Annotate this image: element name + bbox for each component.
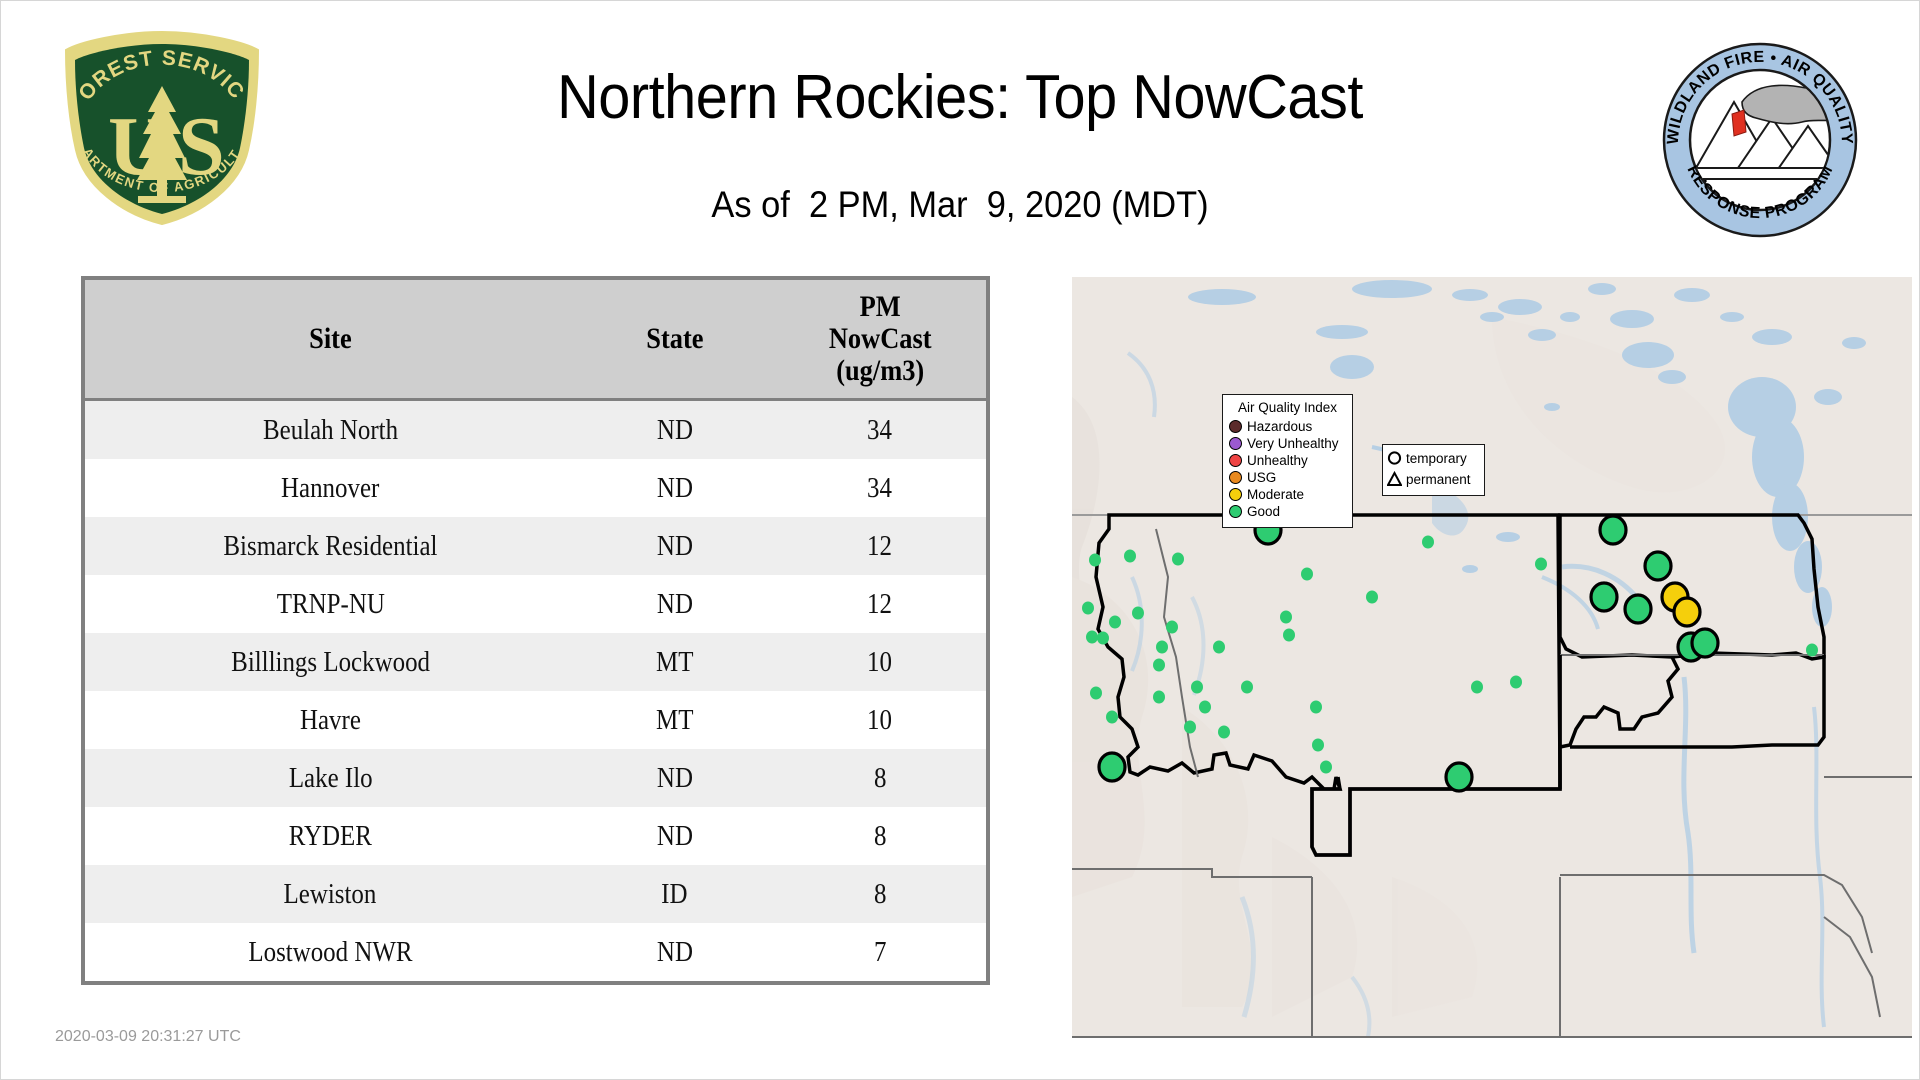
cell-pm-nowcast-label: 10	[867, 646, 892, 679]
cell-site: Beulah North	[85, 400, 576, 460]
monitor-marker-good[interactable]	[1510, 676, 1522, 689]
monitor-marker-good[interactable]	[1153, 691, 1165, 704]
monitor-marker-good[interactable]	[1132, 607, 1144, 620]
cell-site-label: Hannover	[281, 472, 379, 505]
monitor-marker-good[interactable]	[1086, 631, 1098, 644]
legend-title: Air Quality Index	[1229, 400, 1346, 415]
cell-pm-nowcast: 12	[774, 575, 986, 633]
monitor-marker-good[interactable]	[1320, 761, 1332, 774]
map-canvas	[1072, 277, 1912, 1038]
column-header-state-label: State	[588, 323, 762, 355]
monitor-marker-good[interactable]	[1692, 629, 1718, 657]
legend-label: Very Unhealthy	[1247, 437, 1339, 451]
legend-temporary-row: temporary	[1387, 448, 1480, 469]
cell-state: ND	[576, 400, 774, 460]
monitor-marker-good[interactable]	[1199, 701, 1211, 714]
cell-pm-nowcast: 34	[774, 459, 986, 517]
monitor-marker-good[interactable]	[1213, 641, 1225, 654]
cell-state-label: MT	[656, 704, 693, 737]
table-row: Beulah NorthND34	[85, 400, 986, 460]
table-body: Beulah NorthND34HannoverND34Bismarck Res…	[85, 400, 986, 982]
cell-pm-nowcast-label: 34	[867, 472, 892, 505]
temporary-circle-icon	[1387, 450, 1402, 467]
monitor-marker-good[interactable]	[1218, 726, 1230, 739]
cell-pm-nowcast: 12	[774, 517, 986, 575]
legend-swatch-icon	[1229, 471, 1242, 484]
cell-site-label: Beulah North	[263, 414, 398, 447]
monitor-marker-good[interactable]	[1366, 591, 1378, 604]
page-title: Northern Rockies: Top NowCast	[67, 62, 1853, 133]
legend-label: Unhealthy	[1247, 454, 1308, 468]
cell-state-label: ND	[657, 820, 693, 853]
column-header-pm-line1: PM	[786, 291, 973, 323]
air-quality-map[interactable]	[1072, 277, 1912, 1038]
monitor-marker-good[interactable]	[1806, 644, 1818, 657]
monitor-marker-good[interactable]	[1310, 701, 1322, 714]
cell-state: ND	[576, 575, 774, 633]
cell-pm-nowcast-label: 8	[874, 820, 886, 853]
monitor-marker-good[interactable]	[1106, 711, 1118, 724]
table-row: Billlings LockwoodMT10	[85, 633, 986, 691]
legend-label: Hazardous	[1247, 420, 1312, 434]
legend-swatch-icon	[1229, 437, 1242, 450]
cell-site: Lake Ilo	[85, 749, 576, 807]
table-row: RYDERND8	[85, 807, 986, 865]
table-row: Bismarck ResidentialND12	[85, 517, 986, 575]
table-row: HannoverND34	[85, 459, 986, 517]
table-row: Lake IloND8	[85, 749, 986, 807]
cell-site-label: Lostwood NWR	[248, 936, 412, 969]
cell-pm-nowcast: 8	[774, 865, 986, 923]
legend-temporary-label: temporary	[1406, 452, 1467, 466]
monitor-marker-good[interactable]	[1471, 681, 1483, 694]
cell-site: Bismarck Residential	[85, 517, 576, 575]
table-row: TRNP-NUND12	[85, 575, 986, 633]
cell-pm-nowcast: 34	[774, 400, 986, 460]
cell-state-label: MT	[656, 646, 693, 679]
legend-row-unhealthy: Unhealthy	[1229, 452, 1346, 469]
cell-site: Billlings Lockwood	[85, 633, 576, 691]
cell-site: Havre	[85, 691, 576, 749]
cell-site: Hannover	[85, 459, 576, 517]
cell-pm-nowcast-label: 8	[874, 878, 886, 911]
monitor-marker-good[interactable]	[1283, 629, 1295, 642]
cell-site: RYDER	[85, 807, 576, 865]
monitor-marker-good[interactable]	[1591, 583, 1617, 611]
nowcast-table: Site State PM NowCast (ug/m3) Beulah Nor…	[85, 280, 986, 981]
monitor-marker-good[interactable]	[1099, 753, 1125, 781]
monitor-marker-good[interactable]	[1241, 681, 1253, 694]
monitor-marker-good[interactable]	[1191, 681, 1203, 694]
cell-site: Lostwood NWR	[85, 923, 576, 981]
cell-state: MT	[576, 691, 774, 749]
monitor-marker-good[interactable]	[1446, 763, 1472, 791]
monitor-marker-good[interactable]	[1184, 721, 1196, 734]
legend-swatch-icon	[1229, 454, 1242, 467]
monitor-marker-good[interactable]	[1422, 536, 1434, 549]
cell-state-label: ND	[657, 762, 693, 795]
permanent-triangle-icon	[1387, 471, 1402, 488]
cell-pm-nowcast-label: 8	[874, 762, 886, 795]
legend-label: Moderate	[1247, 488, 1304, 502]
column-header-state: State	[576, 280, 774, 400]
column-header-site-label: Site	[114, 323, 546, 355]
cell-site: TRNP-NU	[85, 575, 576, 633]
monitor-marker-good[interactable]	[1082, 602, 1094, 615]
column-header-pm-line2: NowCast	[786, 323, 973, 355]
monitor-marker-moderate[interactable]	[1674, 598, 1700, 626]
legend-row-moderate: Moderate	[1229, 486, 1346, 503]
cell-state: ND	[576, 517, 774, 575]
legend-row-good: Good	[1229, 503, 1346, 520]
monitor-marker-good[interactable]	[1153, 659, 1165, 672]
legend-label: USG	[1247, 471, 1276, 485]
cell-state: ID	[576, 865, 774, 923]
cell-state-label: ND	[657, 588, 693, 621]
cell-pm-nowcast-label: 10	[867, 704, 892, 737]
page-subtitle: As of 2 PM, Mar 9, 2020 (MDT)	[67, 184, 1853, 226]
table-row: Lostwood NWRND7	[85, 923, 986, 981]
monitor-marker-good[interactable]	[1600, 516, 1626, 544]
monitor-marker-good[interactable]	[1156, 641, 1168, 654]
legend-swatch-icon	[1229, 505, 1242, 518]
legend-swatch-icon	[1229, 488, 1242, 501]
cell-site-label: Bismarck Residential	[223, 530, 437, 563]
legend-label: Good	[1247, 505, 1280, 519]
legend-monitor-type: temporary permanent	[1382, 444, 1485, 496]
generation-timestamp: 2020-03-09 20:31:27 UTC	[55, 1028, 241, 1046]
cell-state-label: ID	[662, 878, 688, 911]
cell-pm-nowcast-label: 34	[867, 414, 892, 447]
cell-site-label: Lewiston	[284, 878, 377, 911]
monitor-marker-good[interactable]	[1089, 554, 1101, 567]
column-header-pm-line3: (ug/m3)	[786, 355, 973, 387]
table-row: LewistonID8	[85, 865, 986, 923]
nowcast-table-container: Site State PM NowCast (ug/m3) Beulah Nor…	[81, 276, 990, 985]
legend-row-hazardous: Hazardous	[1229, 418, 1346, 435]
column-header-site: Site	[85, 280, 576, 400]
monitor-marker-good[interactable]	[1645, 552, 1671, 580]
legend-air-quality-index: Air Quality Index HazardousVery Unhealth…	[1222, 394, 1353, 528]
cell-pm-nowcast-label: 12	[867, 530, 892, 563]
monitor-marker-good[interactable]	[1535, 558, 1547, 571]
table-header: Site State PM NowCast (ug/m3)	[85, 280, 986, 400]
cell-site: Lewiston	[85, 865, 576, 923]
monitor-marker-good[interactable]	[1625, 595, 1651, 623]
cell-state: ND	[576, 459, 774, 517]
cell-pm-nowcast-label: 7	[874, 936, 886, 969]
cell-pm-nowcast-label: 12	[867, 588, 892, 621]
legend-permanent-row: permanent	[1387, 469, 1480, 490]
table-header-row: Site State PM NowCast (ug/m3)	[85, 280, 986, 400]
cell-pm-nowcast: 8	[774, 749, 986, 807]
cell-state-label: ND	[657, 936, 693, 969]
monitor-marker-good[interactable]	[1312, 739, 1324, 752]
cell-state: ND	[576, 923, 774, 981]
cell-pm-nowcast: 10	[774, 633, 986, 691]
cell-state-label: ND	[657, 530, 693, 563]
cell-site-label: Billlings Lockwood	[231, 646, 430, 679]
legend-permanent-label: permanent	[1406, 473, 1471, 487]
monitor-marker-good[interactable]	[1090, 687, 1102, 700]
legend-row-very-unhealthy: Very Unhealthy	[1229, 435, 1346, 452]
table-row: HavreMT10	[85, 691, 986, 749]
wfaqrp-logo: WILDLAND FIRE • AIR QUALITY RESPONSE PRO…	[1660, 40, 1860, 240]
monitor-marker-good[interactable]	[1166, 621, 1178, 634]
column-header-pm-nowcast: PM NowCast (ug/m3)	[774, 280, 986, 400]
cell-state-label: ND	[657, 414, 693, 447]
cell-pm-nowcast: 10	[774, 691, 986, 749]
cell-site-label: Havre	[300, 704, 361, 737]
monitor-marker-good[interactable]	[1301, 568, 1313, 581]
cell-state-label: ND	[657, 472, 693, 505]
cell-site-label: RYDER	[289, 820, 372, 853]
cell-state: MT	[576, 633, 774, 691]
monitor-marker-good[interactable]	[1172, 553, 1184, 566]
monitor-marker-good[interactable]	[1097, 632, 1109, 645]
cell-site-label: Lake Ilo	[289, 762, 373, 795]
legend-row-usg: USG	[1229, 469, 1346, 486]
cell-pm-nowcast: 8	[774, 807, 986, 865]
monitor-marker-good[interactable]	[1124, 550, 1136, 563]
monitor-marker-good[interactable]	[1109, 616, 1121, 629]
legend-items: HazardousVery UnhealthyUnhealthyUSGModer…	[1229, 418, 1346, 520]
monitor-marker-good[interactable]	[1280, 611, 1292, 624]
cell-state: ND	[576, 749, 774, 807]
cell-site-label: TRNP-NU	[276, 588, 384, 621]
cell-state: ND	[576, 807, 774, 865]
cell-pm-nowcast: 7	[774, 923, 986, 981]
legend-swatch-icon	[1229, 420, 1242, 433]
